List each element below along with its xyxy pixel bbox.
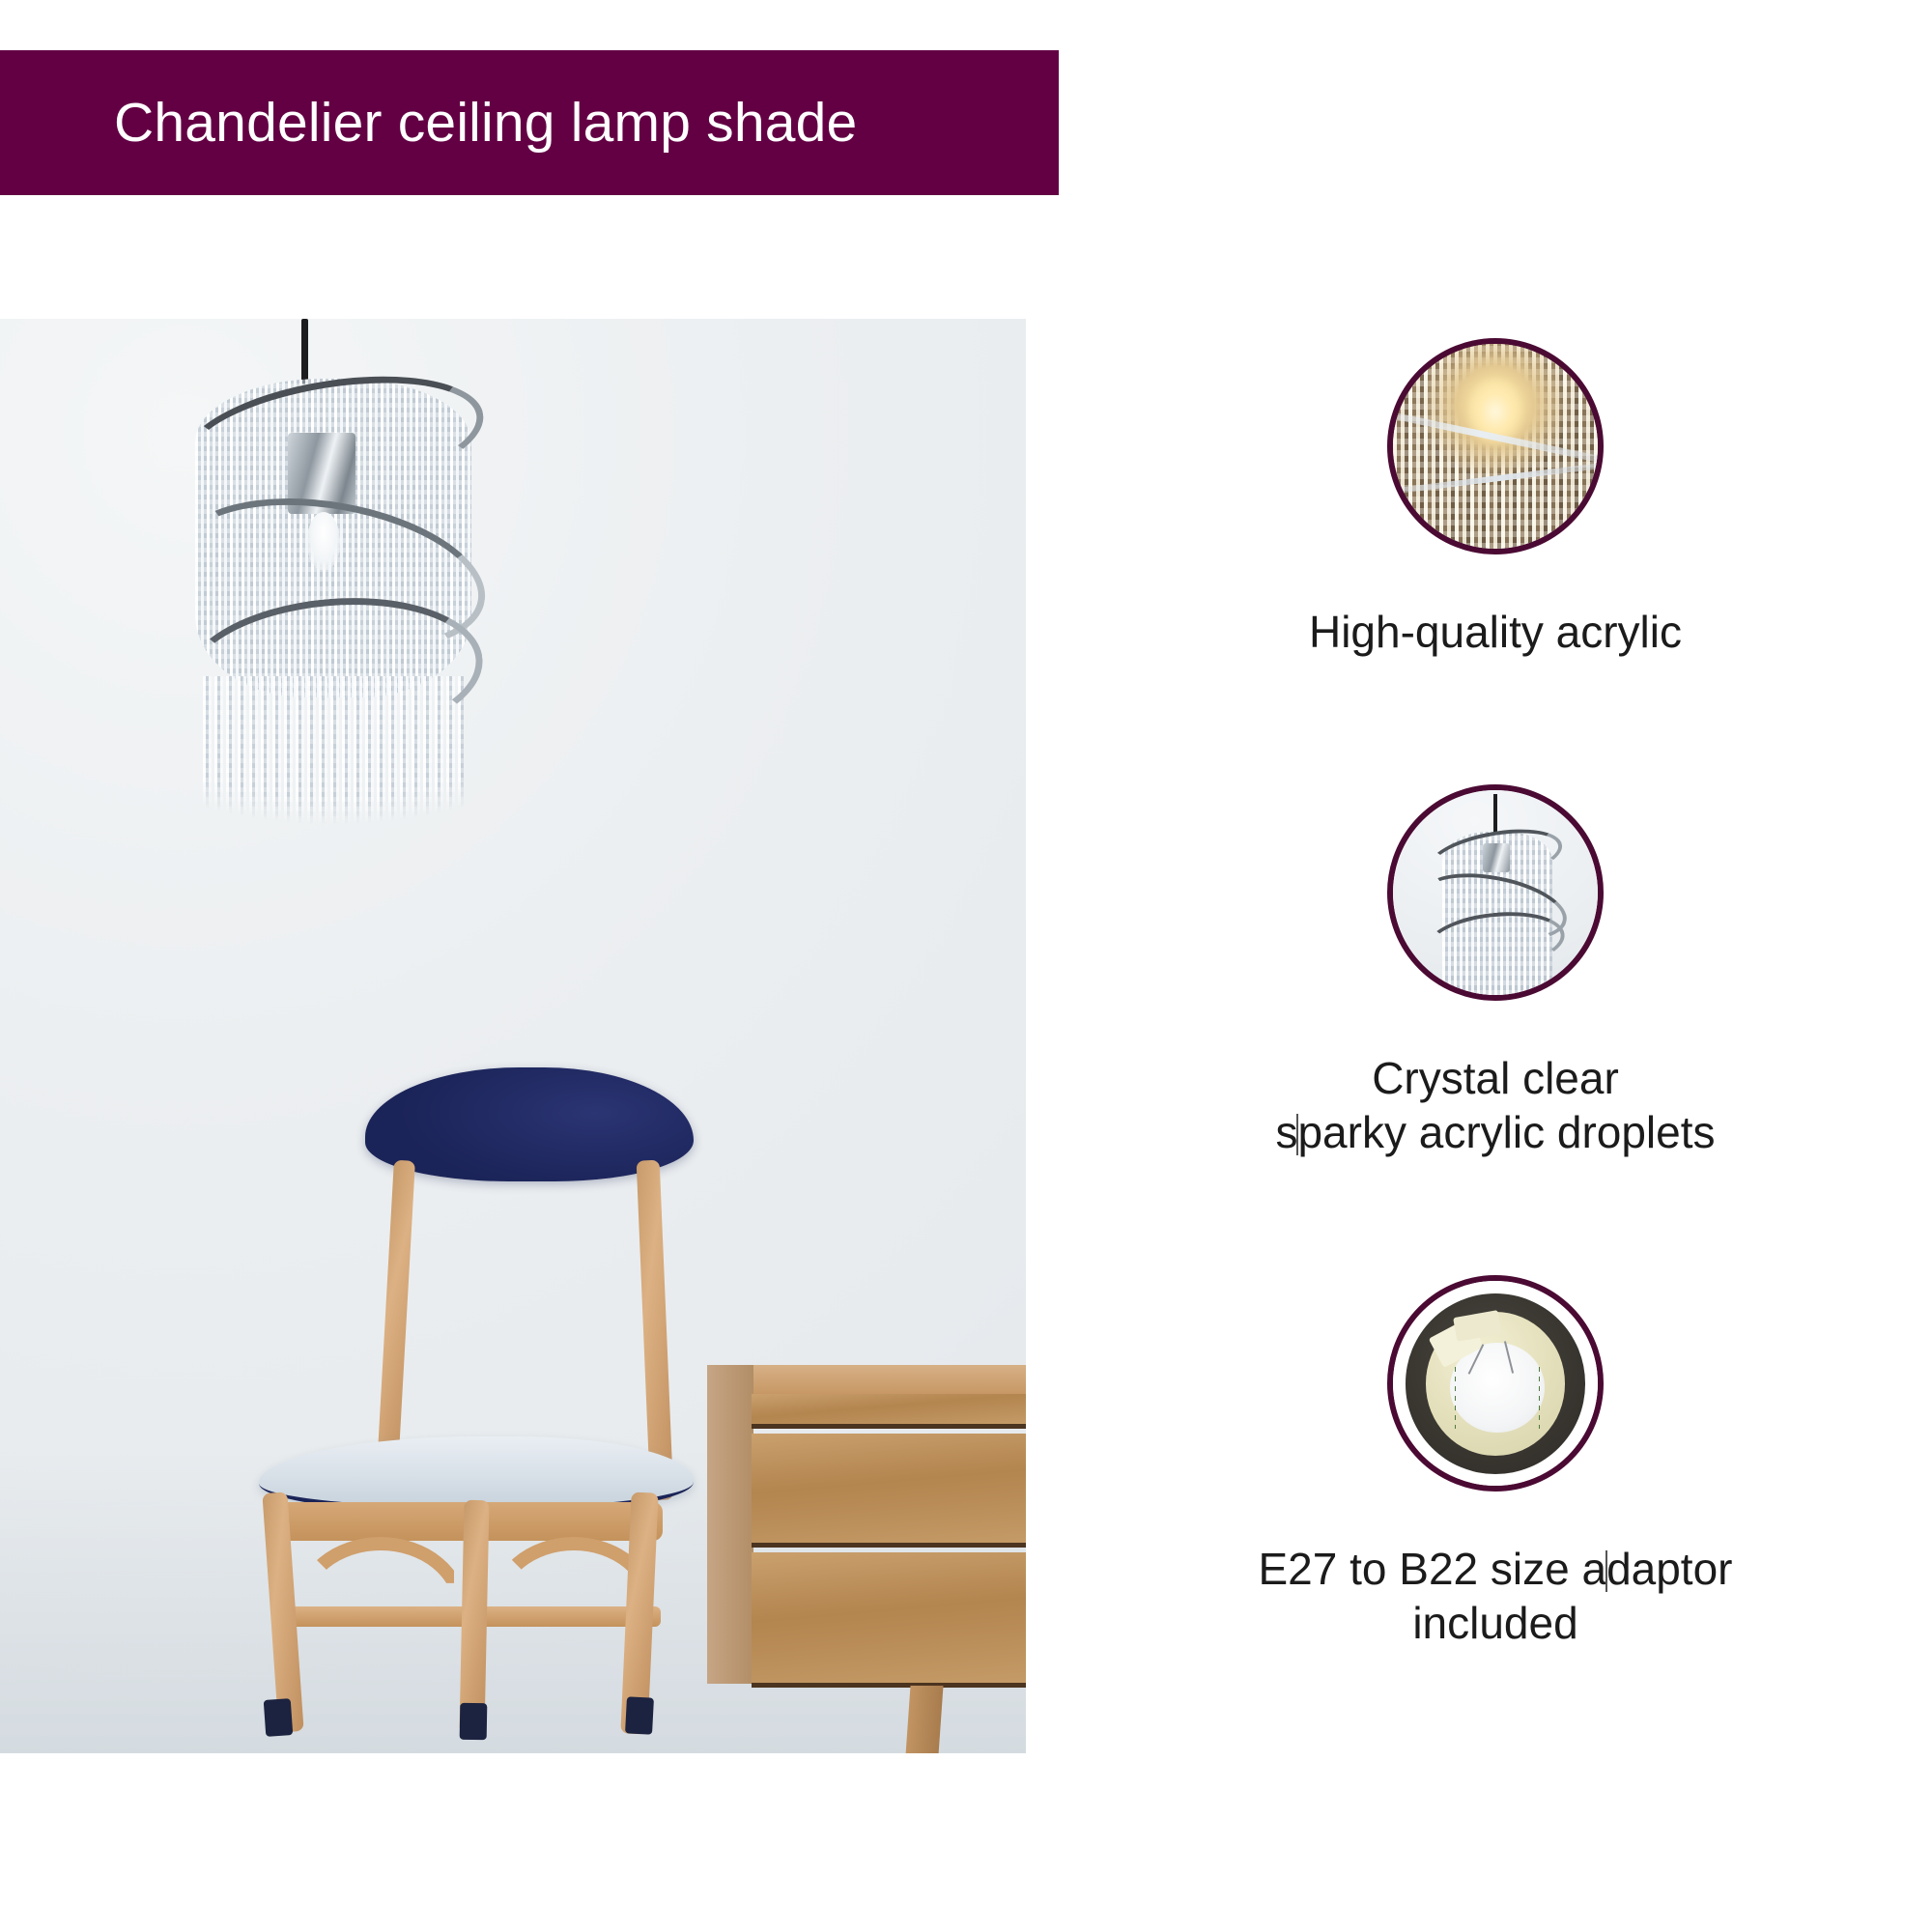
caption-line-part-a: s: [1275, 1107, 1297, 1157]
adaptor-guide-line-right: [1539, 1367, 1540, 1429]
chair-foot-right: [625, 1696, 654, 1734]
lit-crystal-closeup-thumb: [1387, 338, 1604, 554]
feature-list: High-quality acrylic Crystal clear spark…: [1059, 290, 1932, 1651]
sideboard-top: [707, 1365, 1026, 1394]
sideboard-side-panel: [707, 1365, 753, 1684]
wooden-sideboard: [707, 1348, 1026, 1753]
feature-item-e27-b22-adaptor: E27 to B22 size adaptor included: [1059, 1275, 1932, 1650]
sideboard-drawer-1: [752, 1394, 1026, 1429]
sideboard-drawer-2: [752, 1434, 1026, 1548]
chandelier-product: [174, 357, 493, 976]
cord: [1493, 794, 1497, 831]
caption-line-with-caret: sparky acrylic droplets: [1059, 1105, 1932, 1159]
sideboard-leg: [905, 1686, 943, 1753]
chandelier-shade-thumb: [1387, 784, 1604, 1001]
caption-line-with-caret: E27 to B22 size adaptor: [1059, 1542, 1932, 1596]
caption-line-part-b: parky acrylic droplets: [1297, 1107, 1715, 1157]
hero-product-photo: [0, 319, 1026, 1753]
page-title: Chandelier ceiling lamp shade: [0, 91, 857, 155]
feature-item-high-quality-acrylic: High-quality acrylic: [1059, 338, 1932, 659]
feature-item-crystal-clear-droplets: Crystal clear sparky acrylic droplets: [1059, 784, 1932, 1159]
caption-line-part-a: E27 to B22 size a: [1258, 1544, 1606, 1594]
feature-caption: High-quality acrylic: [1059, 605, 1932, 659]
adaptor-guide-line-left: [1455, 1367, 1456, 1429]
caption-line: Crystal clear: [1059, 1051, 1932, 1105]
sideboard-drawer-3: [752, 1552, 1026, 1688]
feature-caption: Crystal clear sparky acrylic droplets: [1059, 1051, 1932, 1159]
lamp-adaptor-thumb: [1387, 1275, 1604, 1492]
chair-foot-left: [264, 1698, 294, 1737]
chair-front-leg-mid: [459, 1500, 489, 1734]
chair-foot-mid: [460, 1703, 488, 1740]
feature-caption: E27 to B22 size adaptor included: [1059, 1542, 1932, 1650]
caption-line: High-quality acrylic: [1059, 605, 1932, 659]
header-banner: Chandelier ceiling lamp shade: [0, 50, 1059, 195]
dining-chair: [241, 1067, 782, 1753]
chair-brace-left: [294, 1537, 468, 1612]
product-infographic-page: Chandelier ceiling lamp shade: [0, 0, 1932, 1932]
caption-line: included: [1059, 1596, 1932, 1650]
caption-line-part-b: daptor: [1606, 1544, 1732, 1594]
